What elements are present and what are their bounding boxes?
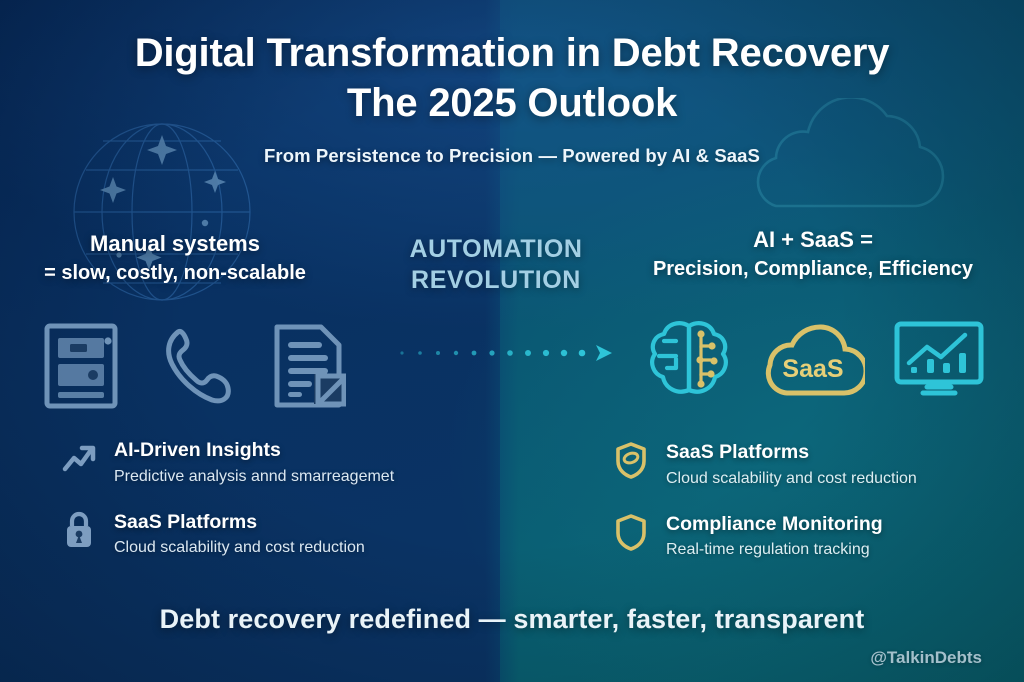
title-line-1: Digital Transformation in Debt Recovery [135, 31, 890, 75]
center-heading-line-1: AUTOMATION [386, 234, 606, 265]
center-heading-line-2: REVOLUTION [386, 265, 606, 296]
feature-item: Compliance Monitoring Real-time regulati… [612, 512, 1012, 562]
saas-cloud-icon: SaaS [761, 319, 865, 405]
saas-cloud-label: SaaS [782, 355, 843, 383]
feature-title: SaaS Platforms [666, 441, 917, 465]
left-heading-line-2: = slow, costly, non-scalable [0, 259, 350, 287]
legacy-icon-row [42, 322, 346, 410]
feature-title: SaaS Platforms [114, 511, 365, 535]
page-title: Digital Transformation in Debt Recovery … [0, 28, 1024, 129]
right-heading-line-1: AI + SaaS = [608, 224, 1018, 255]
center-heading: AUTOMATION REVOLUTION [386, 234, 606, 295]
monitor-analytics-icon [893, 319, 985, 405]
feature-subtitle: Cloud scalability and cost reduction [114, 538, 365, 559]
shield-icon [612, 512, 650, 552]
header: Digital Transformation in Debt Recovery … [0, 28, 1024, 167]
modern-icon-row: SaaS [645, 316, 985, 408]
footer-tagline: Debt recovery redefined — smarter, faste… [0, 604, 1024, 635]
feature-title: AI-Driven Insights [114, 439, 394, 463]
shield-check-icon [612, 440, 650, 480]
social-handle: @TalkinDebts [870, 648, 982, 668]
page-subtitle: From Persistence to Precision — Powered … [0, 145, 1024, 167]
feature-title: Compliance Monitoring [666, 513, 883, 537]
feature-subtitle: Predictive analysis annd smarreagemet [114, 467, 394, 488]
left-feature-list: AI-Driven Insights Predictive analysis a… [60, 438, 510, 581]
left-heading-line-1: Manual systems [0, 228, 350, 259]
server-cabinet-icon [42, 322, 120, 410]
title-line-2: The 2025 Outlook [347, 81, 677, 125]
right-column-heading: AI + SaaS = Precision, Compliance, Effic… [608, 224, 1018, 284]
dotted-arrow-right-icon [396, 340, 626, 366]
right-feature-list: SaaS Platforms Cloud scalability and cos… [612, 440, 1012, 583]
paper-document-pen-icon [268, 322, 346, 410]
feature-item: AI-Driven Insights Predictive analysis a… [60, 438, 510, 488]
infographic-canvas: Digital Transformation in Debt Recovery … [0, 0, 1024, 682]
telephone-handset-icon [156, 322, 232, 410]
feature-subtitle: Real-time regulation tracking [666, 540, 883, 561]
feature-item: SaaS Platforms Cloud scalability and cos… [60, 510, 510, 560]
left-column-heading: Manual systems = slow, costly, non-scala… [0, 228, 350, 288]
right-heading-line-2: Precision, Compliance, Efficiency [608, 255, 1018, 283]
trending-up-arrow-icon [60, 438, 98, 478]
padlock-icon [60, 510, 98, 550]
feature-item: SaaS Platforms Cloud scalability and cos… [612, 440, 1012, 490]
ai-brain-circuit-icon [645, 316, 733, 408]
feature-subtitle: Cloud scalability and cost reduction [666, 469, 917, 490]
